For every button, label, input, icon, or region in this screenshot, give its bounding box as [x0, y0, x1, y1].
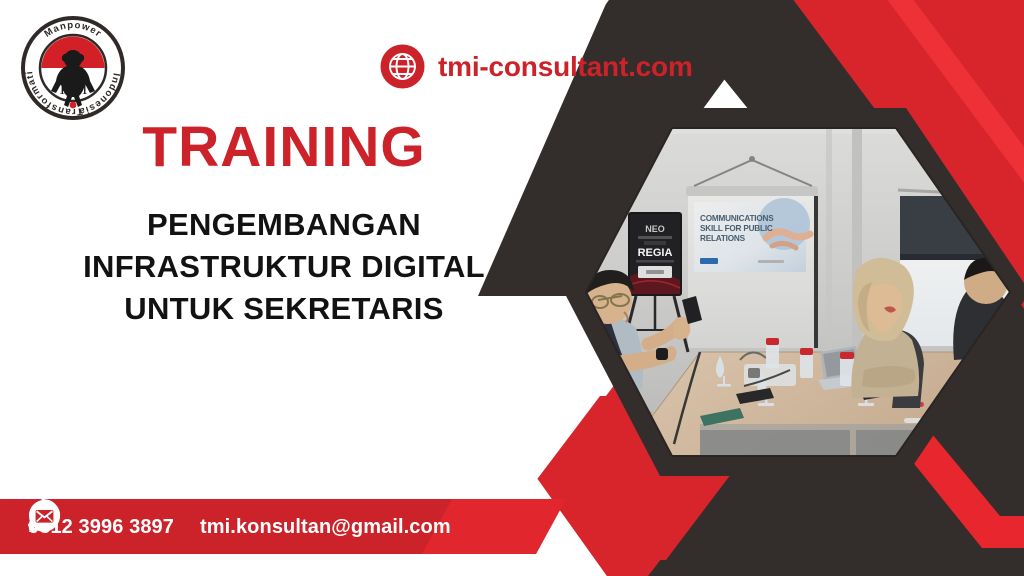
training-poster: COMMUNICATIONS SKILL FOR PUBLIC RELATION… [0, 0, 1024, 576]
page-title: TRAINING [24, 118, 544, 178]
website-line[interactable]: tmi-consultant.com [380, 44, 693, 89]
contact-email[interactable]: tmi.konsultan@gmail.com [200, 517, 451, 537]
logo-initials: TMI [58, 82, 89, 98]
headline-block: TRAINING PENGEMBANGAN INFRASTRUKTUR DIGI… [24, 118, 544, 330]
email-address: tmi.konsultan@gmail.com [200, 517, 451, 537]
subtitle-line-1: PENGEMBANGAN [24, 204, 544, 246]
subtitle-line-2: INFRASTRUKTUR DIGITAL [24, 246, 544, 288]
website-url: tmi-consultant.com [438, 53, 693, 81]
globe-icon [380, 44, 425, 89]
tmi-logo: TMI Manpower Indonesia Transformation [17, 12, 129, 124]
contact-footer-bar: 0812 3996 3897 tmi.konsultan@gmail.com [0, 499, 566, 554]
envelope-icon [28, 499, 61, 532]
subtitle-line-3: UNTUK SEKRETARIS [24, 288, 544, 330]
